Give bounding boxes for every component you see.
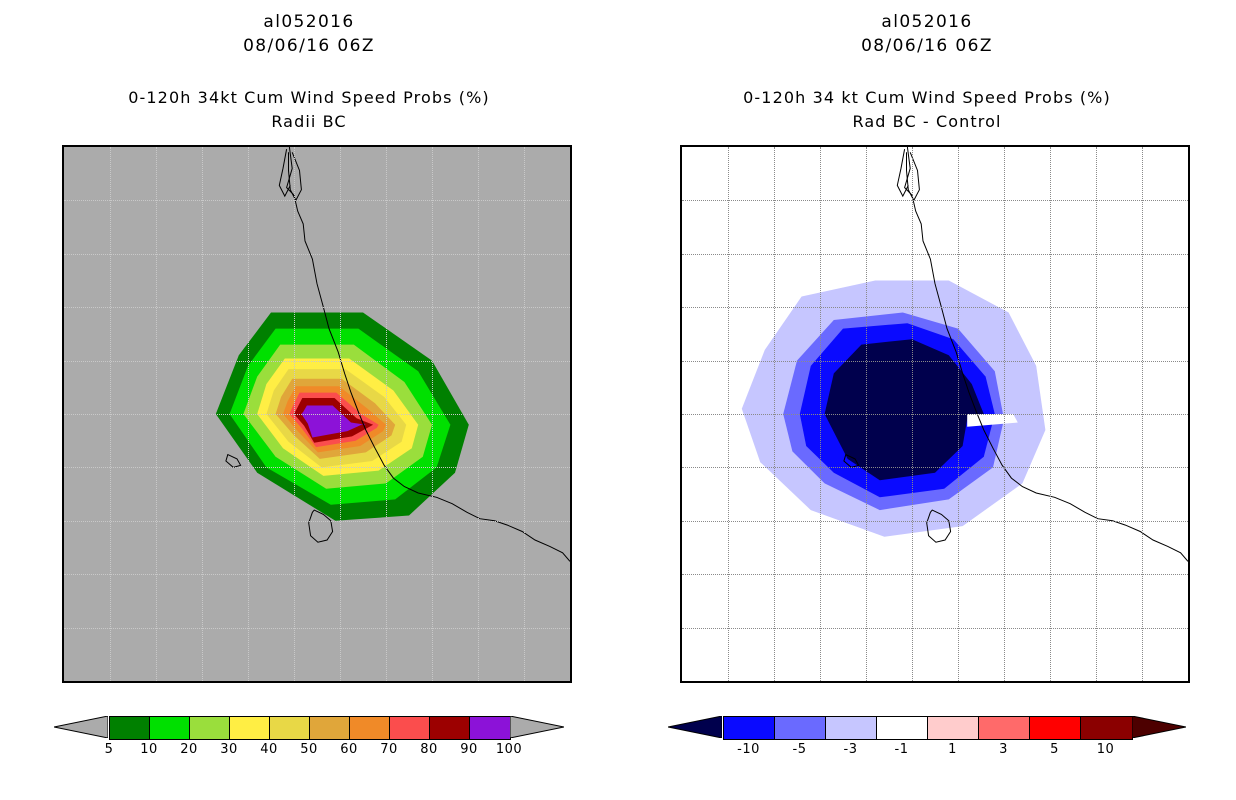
colorbar-tick-label: 3: [999, 742, 1008, 757]
grid-line-vertical: [1096, 147, 1097, 681]
grid-line-vertical: [774, 147, 775, 681]
grid-line-vertical: [110, 147, 111, 681]
grid-line-vertical: [1004, 147, 1005, 681]
grid-line-horizontal: [682, 521, 1188, 522]
grid-line-horizontal: [682, 254, 1188, 255]
grid-line-vertical: [202, 147, 203, 681]
datetime-right: 08/06/16 06Z: [618, 36, 1236, 56]
grid-line-horizontal: [64, 628, 570, 629]
grid-line-horizontal: [682, 200, 1188, 201]
colorbar-swatch: [150, 717, 190, 739]
storm-id-right: al052016: [618, 12, 1236, 32]
grid-line-vertical: [294, 147, 295, 681]
grid-line-vertical: [340, 147, 341, 681]
panel-radii-bc: al052016 08/06/16 06Z 0-120h 34kt Cum Wi…: [0, 0, 618, 800]
plot-subtitle-left: Radii BC: [0, 112, 618, 131]
grid-line-horizontal: [64, 200, 570, 201]
grid-line-vertical: [432, 147, 433, 681]
grid-line-horizontal: [682, 361, 1188, 362]
panel-rad-bc-minus-control: al052016 08/06/16 06Z 0-120h 34 kt Cum W…: [618, 0, 1236, 800]
colorbar-swatch: [230, 717, 270, 739]
colorbar-tick-label: 40: [260, 742, 278, 757]
colorbar-swatch: [110, 717, 150, 739]
colorbar-swatch: [877, 717, 928, 739]
grid-line-horizontal: [682, 414, 1188, 415]
grid-line-vertical: [248, 147, 249, 681]
colorbar-tick-label: 50: [300, 742, 318, 757]
colorbar-right: -10-5-3-113510: [618, 716, 1236, 776]
colorbar-tick-label: 100: [496, 742, 522, 757]
colorbar-tick-label: 1: [948, 742, 957, 757]
colorbar-swatch: [826, 717, 877, 739]
colorbar-swatch: [928, 717, 979, 739]
grid-line-vertical: [1142, 147, 1143, 681]
colorbar-tick-label: 10: [140, 742, 158, 757]
grid-line-vertical: [524, 147, 525, 681]
colorbar-under-arrow-right: [668, 716, 722, 738]
cape-outline: [226, 455, 241, 468]
grid-line-horizontal: [682, 574, 1188, 575]
grid-line-vertical: [820, 147, 821, 681]
map-plot-difference: 17N17.5N18N18.5N19N19.5N20N20.5N21N21.5N…: [680, 145, 1190, 683]
plot-title-left: 0-120h 34kt Cum Wind Speed Probs (%): [0, 88, 618, 107]
grid-line-vertical: [958, 147, 959, 681]
grid-line-horizontal: [64, 307, 570, 308]
colorbar-swatch: [350, 717, 390, 739]
grid-line-vertical: [478, 147, 479, 681]
colorbar-under-arrow-left: [54, 716, 108, 738]
grid-line-vertical: [386, 147, 387, 681]
colorbar-swatch: [270, 717, 310, 739]
grid-line-vertical: [866, 147, 867, 681]
colorbar-tick-label: -10: [737, 742, 760, 757]
wind-speed-probability-figure: al052016 08/06/16 06Z 0-120h 34kt Cum Wi…: [0, 0, 1236, 800]
colorbar-swatch: [1081, 717, 1132, 739]
colorbar-tick-label: 5: [105, 742, 114, 757]
colorbar-swatch: [1030, 717, 1081, 739]
grid-line-vertical: [728, 147, 729, 681]
colorbar-tick-label: 30: [220, 742, 238, 757]
colorbar-tick-label: -3: [844, 742, 858, 757]
colorbar-over-arrow-left: [510, 716, 564, 738]
grid-line-horizontal: [64, 467, 570, 468]
grid-line-horizontal: [64, 574, 570, 575]
colorbar-swatch: [775, 717, 826, 739]
grid-line-vertical: [1050, 147, 1051, 681]
grid-line-horizontal: [682, 467, 1188, 468]
colorbar-tick-label: 80: [420, 742, 438, 757]
colorbar-tick-label: 90: [460, 742, 478, 757]
colorbar-tick-label: 70: [380, 742, 398, 757]
map-plot-radii-bc: 17N17.5N18N18.5N19N19.5N20N20.5N21N21.5N…: [62, 145, 572, 683]
colorbar-swatch: [979, 717, 1030, 739]
colorbar-swatch: [310, 717, 350, 739]
colorbar-over-arrow-right: [1132, 716, 1186, 738]
colorbar-swatch: [390, 717, 430, 739]
colorbar-swatch: [190, 717, 230, 739]
colorbar-swatch: [470, 717, 510, 739]
colorbar-swatch: [724, 717, 775, 739]
grid-line-horizontal: [682, 628, 1188, 629]
grid-line-vertical: [156, 147, 157, 681]
grid-line-horizontal: [682, 307, 1188, 308]
colorbar-left: 5102030405060708090100: [0, 716, 618, 776]
colorbar-tick-label: -1: [895, 742, 909, 757]
colorbar-tick-label: 10: [1097, 742, 1115, 757]
colorbar-tick-label: -5: [793, 742, 807, 757]
grid-line-horizontal: [64, 361, 570, 362]
colorbar-tick-label: 5: [1050, 742, 1059, 757]
colorbar-tick-label: 20: [180, 742, 198, 757]
colorbar-segments-right: [723, 716, 1133, 740]
datetime-left: 08/06/16 06Z: [0, 36, 618, 56]
plot-title-right: 0-120h 34 kt Cum Wind Speed Probs (%): [618, 88, 1236, 107]
grid-line-vertical: [912, 147, 913, 681]
colorbar-tick-label: 60: [340, 742, 358, 757]
colorbar-swatch: [430, 717, 470, 739]
colorbar-segments-left: [109, 716, 511, 740]
storm-id-left: al052016: [0, 12, 618, 32]
grid-line-horizontal: [64, 521, 570, 522]
grid-line-horizontal: [64, 414, 570, 415]
plot-subtitle-right: Rad BC - Control: [618, 112, 1236, 131]
grid-line-horizontal: [64, 254, 570, 255]
